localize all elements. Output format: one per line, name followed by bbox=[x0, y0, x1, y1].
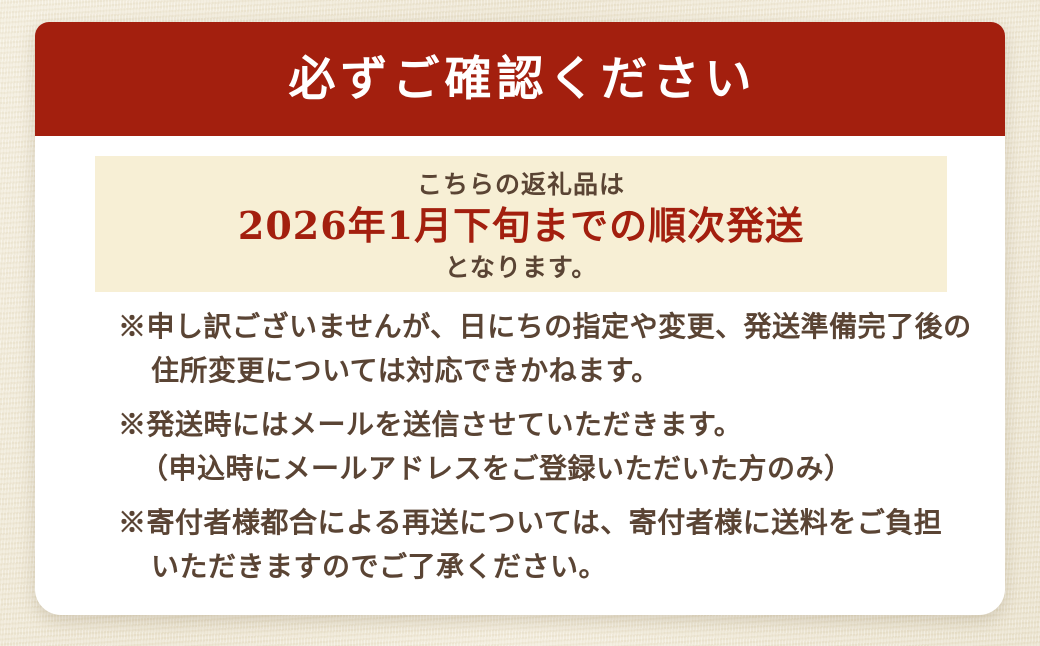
note-line: ※寄付者様都合による再送については、寄付者様に送料をご負担 bbox=[118, 501, 938, 545]
note-line: ※発送時にはメールを送信させていただきます。 bbox=[118, 403, 938, 447]
shipping-highlight-box: こちらの返礼品は 2026年1月下旬までの順次発送 となります。 bbox=[95, 156, 947, 292]
notes-list: ※申し訳ございませんが、日にちの指定や変更、発送準備完了後の 住所変更については… bbox=[118, 305, 938, 599]
note-line: ※申し訳ございませんが、日にちの指定や変更、発送準備完了後の bbox=[118, 305, 938, 349]
note-item: ※寄付者様都合による再送については、寄付者様に送料をご負担 いただきますのでご了… bbox=[118, 501, 938, 589]
note-item: ※申し訳ございませんが、日にちの指定や変更、発送準備完了後の 住所変更については… bbox=[118, 305, 938, 393]
page-title: 必ずご確認ください bbox=[284, 56, 757, 103]
notice-card: 必ずご確認ください こちらの返礼品は 2026年1月下旬までの順次発送 となりま… bbox=[35, 22, 1005, 615]
notice-page: 必ずご確認ください こちらの返礼品は 2026年1月下旬までの順次発送 となりま… bbox=[0, 0, 1040, 646]
note-line: （申込時にメールアドレスをご登録いただいた方のみ） bbox=[118, 447, 938, 491]
note-item: ※発送時にはメールを送信させていただきます。 （申込時にメールアドレスをご登録い… bbox=[118, 403, 938, 491]
notice-header-band: 必ずご確認ください bbox=[35, 22, 1005, 136]
note-line: いただきますのでご了承ください。 bbox=[118, 545, 938, 589]
highlight-line-bottom: となります。 bbox=[445, 252, 598, 283]
highlight-line-top: こちらの返礼品は bbox=[417, 169, 625, 200]
note-line: 住所変更については対応できかねます。 bbox=[118, 349, 938, 393]
highlight-shipping-date: 2026年1月下旬までの順次発送 bbox=[238, 202, 804, 250]
